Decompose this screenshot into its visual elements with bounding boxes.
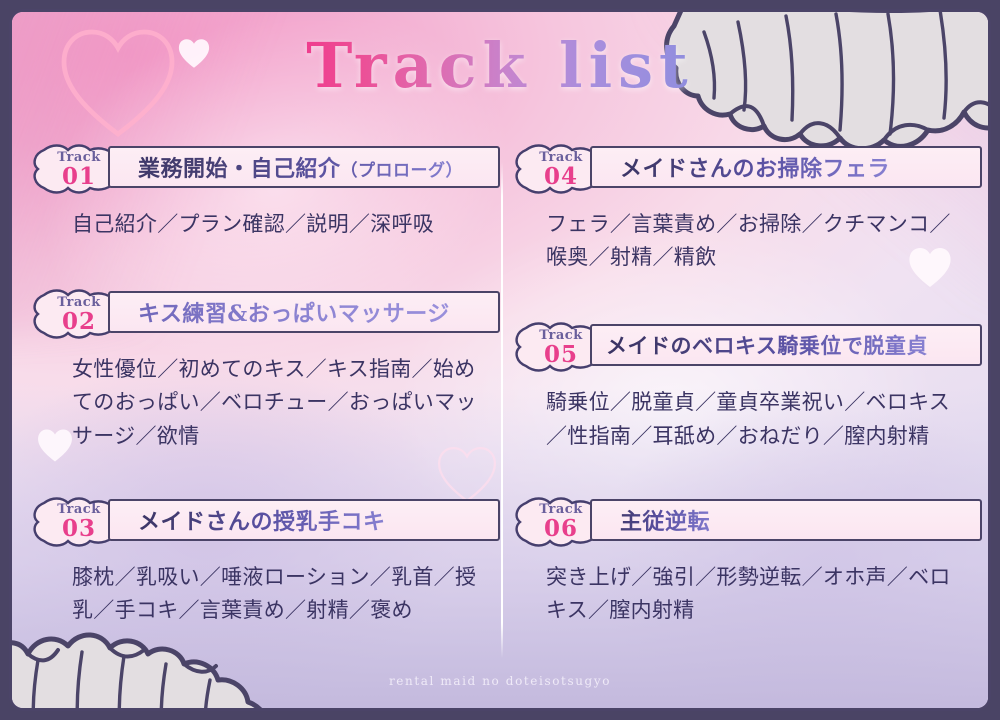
- track-title: 業務開始・自己紹介（プロローグ）: [110, 151, 473, 183]
- column-divider: [501, 162, 503, 658]
- track-title-bar: メイドさんのお掃除フェラ: [590, 146, 982, 188]
- track-columns: Track 01 業務開始・自己紹介（プロローグ） 自己紹介／プラン確認／説明／…: [12, 138, 991, 658]
- track-tags: 自己紹介／プラン確認／説明／深呼吸: [72, 208, 496, 241]
- track-header: Track 05 メイドのベロキス騎乗位で脱童貞: [512, 316, 982, 374]
- track-title-bar: 業務開始・自己紹介（プロローグ）: [108, 146, 500, 188]
- track-badge-word: Track: [57, 296, 100, 309]
- track-item[interactable]: Track 01 業務開始・自己紹介（プロローグ） 自己紹介／プラン確認／説明／…: [30, 138, 500, 241]
- track-tags: フェラ／言葉責め／お掃除／クチマンコ／喉奥／射精／精飲: [546, 208, 970, 274]
- heart-outline-icon: [58, 24, 178, 142]
- track-badge-word: Track: [57, 151, 100, 164]
- track-title: メイドさんのお掃除フェラ: [592, 151, 900, 183]
- track-column-left: Track 01 業務開始・自己紹介（プロローグ） 自己紹介／プラン確認／説明／…: [30, 138, 500, 635]
- footer: rental maid no doteisotsugyo: [12, 672, 988, 690]
- track-tags: 女性優位／初めてのキス／キス指南／始めてのおっぱい／ベロチュー／おっぱいマッサー…: [72, 353, 496, 453]
- track-title: 主従逆転: [592, 504, 720, 536]
- track-tags: 騎乗位／脱童貞／童貞卒業祝い／ベロキス／性指南／耳舐め／おねだり／膣内射精: [546, 386, 970, 452]
- track-item[interactable]: Track 04 メイドさんのお掃除フェラ フェラ／言葉責め／お掃除／クチマンコ…: [512, 138, 982, 274]
- track-badge-word: Track: [539, 151, 582, 164]
- lace-frill-top-right: [652, 9, 991, 156]
- track-column-right: Track 04 メイドさんのお掃除フェラ フェラ／言葉責め／お掃除／クチマンコ…: [512, 138, 982, 635]
- track-badge-number: 02: [62, 310, 96, 333]
- track-title: メイドのベロキス騎乗位で脱童貞: [592, 330, 938, 360]
- track-badge-number: 03: [62, 517, 96, 540]
- track-title-bar: メイドさんの授乳手コキ: [108, 499, 500, 541]
- heart-solid-icon: [177, 37, 211, 70]
- track-title-bar: キス練習&おっぱいマッサージ: [108, 291, 500, 333]
- track-tags: 突き上げ／強引／形勢逆転／オホ声／ベロキス／膣内射精: [546, 561, 970, 627]
- track-title-bar: 主従逆転: [590, 499, 982, 541]
- track-list-poster: Track list Track 01: [0, 0, 1000, 720]
- track-badge-number: 06: [544, 517, 578, 540]
- track-title: キス練習&おっぱいマッサージ: [110, 296, 460, 328]
- track-badge-number: 04: [544, 165, 578, 188]
- track-badge-number: 05: [544, 343, 578, 366]
- footer-text: rental maid no doteisotsugyo: [389, 674, 611, 688]
- track-header: Track 04 メイドさんのお掃除フェラ: [512, 138, 982, 196]
- poster-frame: Track list Track 01: [9, 9, 991, 711]
- track-header: Track 02 キス練習&おっぱいマッサージ: [30, 283, 500, 341]
- track-title-bar: メイドのベロキス騎乗位で脱童貞: [590, 324, 982, 366]
- track-header: Track 06 主従逆転: [512, 491, 982, 549]
- track-item[interactable]: Track 06 主従逆転 突き上げ／強引／形勢逆転／オホ声／ベロキス／膣内射精: [512, 491, 982, 627]
- track-item[interactable]: Track 03 メイドさんの授乳手コキ 膝枕／乳吸い／唾液ローション／乳首／授…: [30, 491, 500, 627]
- track-header: Track 03 メイドさんの授乳手コキ: [30, 491, 500, 549]
- track-item[interactable]: Track 05 メイドのベロキス騎乗位で脱童貞 騎乗位／脱童貞／童貞卒業祝い／…: [512, 316, 982, 452]
- track-badge-word: Track: [539, 329, 582, 342]
- track-item[interactable]: Track 02 キス練習&おっぱいマッサージ 女性優位／初めてのキス／キス指南…: [30, 283, 500, 453]
- track-tags: 膝枕／乳吸い／唾液ローション／乳首／授乳／手コキ／言葉責め／射精／褒め: [72, 561, 496, 627]
- track-header: Track 01 業務開始・自己紹介（プロローグ）: [30, 138, 500, 196]
- track-title: メイドさんの授乳手コキ: [110, 504, 396, 536]
- track-badge-number: 01: [62, 165, 96, 188]
